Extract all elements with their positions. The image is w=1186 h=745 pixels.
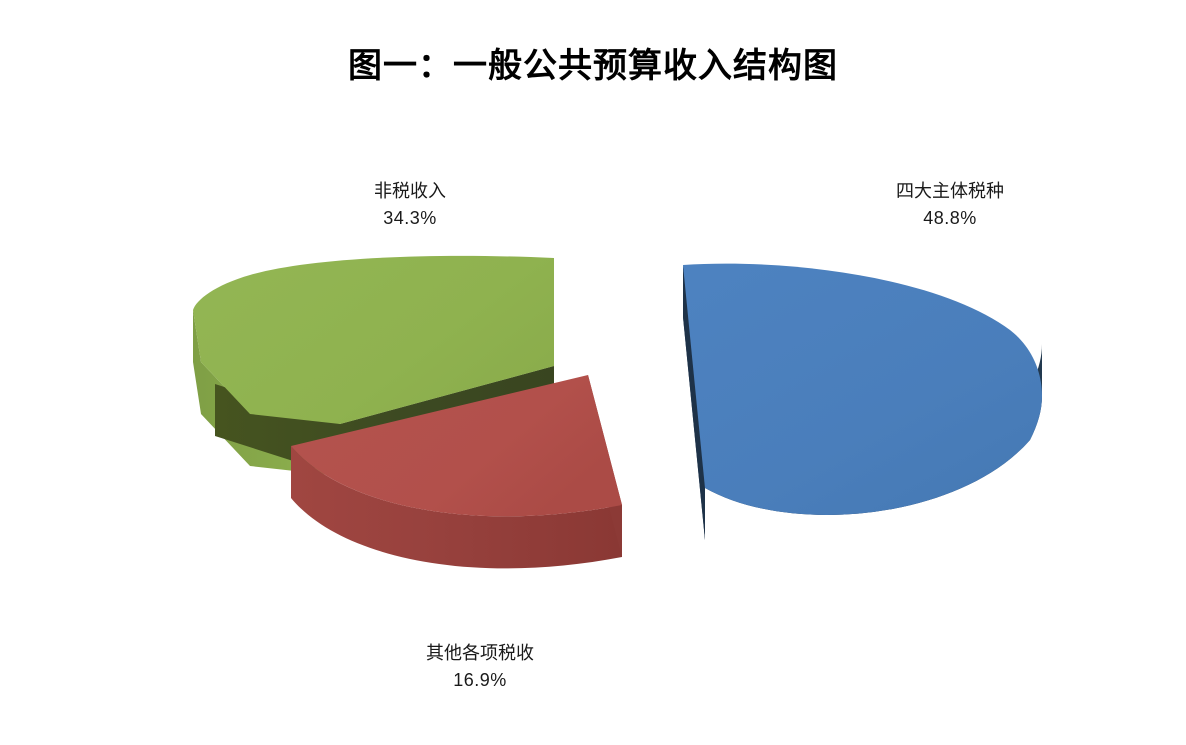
pie-label-fourtax-percent: 48.8%: [775, 205, 1125, 232]
pie-label-fourtax: 四大主体税种 48.8%: [775, 178, 1125, 232]
pie-label-othertax-percent: 16.9%: [330, 667, 630, 694]
pie-slice-fourtax[interactable]: [683, 264, 1042, 540]
pie-chart-graphic: [0, 0, 1186, 745]
pie-label-nontax-percent: 34.3%: [265, 205, 555, 232]
chart-page: 图一：一般公共预算收入结构图: [0, 0, 1186, 745]
pie-slice-fourtax-top: [683, 264, 1042, 515]
pie-label-fourtax-name: 四大主体税种: [896, 181, 1004, 201]
pie-label-nontax: 非税收入 34.3%: [265, 178, 555, 232]
pie-label-othertax-name: 其他各项税收: [426, 643, 534, 663]
pie-label-othertax: 其他各项税收 16.9%: [330, 640, 630, 694]
pie-label-nontax-name: 非税收入: [374, 181, 446, 201]
